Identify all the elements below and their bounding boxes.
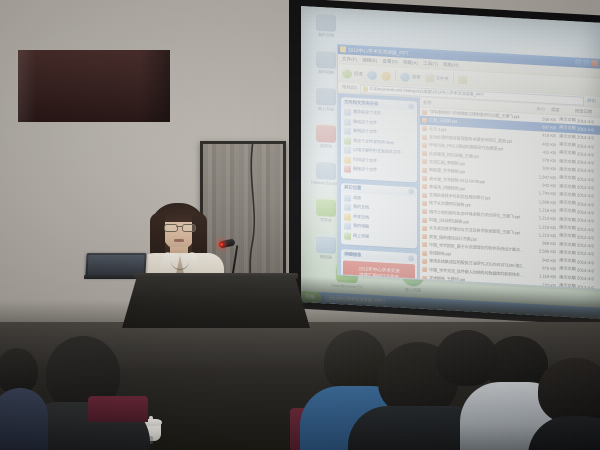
views-button[interactable] bbox=[458, 75, 467, 84]
my-computer-glyph bbox=[316, 50, 336, 69]
file-type: 演示文稿 bbox=[559, 249, 577, 256]
file-type: 演示文稿 bbox=[559, 141, 577, 148]
file-date: 2012-4-9 bbox=[577, 143, 599, 149]
forward-arrow-icon bbox=[367, 69, 377, 80]
file-type: 演示文稿 bbox=[559, 117, 577, 124]
menu-item-favorites[interactable]: 收藏(A) bbox=[403, 59, 418, 66]
back-button[interactable]: 后退 bbox=[342, 68, 363, 79]
folders-button-label: 文件夹 bbox=[436, 75, 449, 82]
powerpoint-file-icon bbox=[422, 226, 427, 231]
email-icon bbox=[344, 146, 351, 153]
explorer-body: 文件和文件夹任务 重命名这个文件 移动这个文件 bbox=[338, 93, 600, 290]
powerpoint-file-icon bbox=[422, 109, 427, 114]
file-date: 2012-4-9 bbox=[577, 218, 599, 224]
other-places-body: 桌面 我的文档 共享文档 bbox=[341, 192, 417, 249]
folder-path-icon bbox=[363, 86, 368, 91]
file-date: 2012-4-9 bbox=[577, 168, 599, 174]
file-size: 2,585 KB bbox=[526, 248, 559, 255]
file-date: 2012-4-9 bbox=[577, 267, 599, 273]
details-title: 详细信息 bbox=[344, 251, 361, 258]
file-date: 2012-4-9 bbox=[577, 135, 599, 141]
close-button[interactable] bbox=[591, 60, 598, 66]
file-type: 演示文稿 bbox=[559, 125, 577, 132]
powerpoint-file-icon bbox=[422, 184, 427, 189]
move-icon bbox=[344, 118, 351, 125]
file-size: 942 KB bbox=[526, 256, 559, 263]
file-folder-tasks-group: 文件和文件夹任务 重命名这个文件 移动这个文件 bbox=[341, 97, 417, 182]
file-date: 2012-4-9 bbox=[577, 176, 599, 182]
other-places-group: 其它位置 桌面 我的文档 bbox=[341, 183, 417, 249]
file-date: 2012-4-9 bbox=[577, 126, 599, 132]
file-date: 2012-4-9 bbox=[577, 201, 599, 207]
powerpoint-file-icon bbox=[422, 167, 427, 172]
file-size: 1,216 KB bbox=[526, 223, 559, 230]
task-label: 将这个文件发布到 Web bbox=[353, 137, 394, 144]
powerpoint-file-icon bbox=[422, 201, 427, 206]
file-size: 402 KB bbox=[526, 140, 559, 147]
folder-glyph bbox=[316, 198, 336, 217]
file-size: 558 KB bbox=[526, 115, 559, 122]
toolbar-separator-2 bbox=[453, 73, 454, 84]
file-list-rows: "学科智构科" 环境精善法律制度研究议题_王建飞.ppt558 KB演示文稿20… bbox=[420, 108, 600, 290]
file-date: 2012-4-9 bbox=[577, 276, 599, 282]
menu-item-view[interactable]: 查看(V) bbox=[382, 58, 397, 65]
file-size: 968 KB bbox=[526, 240, 559, 247]
file-type: 演示文稿 bbox=[559, 133, 577, 140]
powerpoint-file-icon bbox=[422, 242, 427, 247]
back-arrow-icon bbox=[342, 68, 352, 79]
file-size: 1,213 KB bbox=[526, 215, 559, 222]
file-size: 875 KB bbox=[526, 265, 559, 272]
audience-member-6 bbox=[528, 358, 600, 450]
desktop-icon-label: 我的文档 bbox=[305, 31, 347, 38]
presenter-glasses bbox=[163, 223, 195, 230]
ie-glyph bbox=[316, 161, 336, 180]
audience-head bbox=[436, 330, 498, 386]
place-label: 网上邻居 bbox=[353, 232, 369, 238]
powerpoint-file-icon bbox=[422, 217, 427, 222]
menu-item-file[interactable]: 文件(F) bbox=[342, 56, 357, 63]
file-folder-tasks-body: 重命名这个文件 移动这个文件 复制这个文件 bbox=[341, 106, 417, 182]
lecture-hall-photo: 我的文档 我的电脑 网上邻居 回收站 Internet Explorer 文件夹 bbox=[0, 0, 600, 450]
powerpoint-file-icon bbox=[422, 234, 427, 239]
task-delete-file[interactable]: 删除这个文件 bbox=[344, 165, 414, 176]
minimize-button[interactable] bbox=[575, 59, 582, 65]
file-size: 411 KB bbox=[526, 148, 559, 155]
task-label: 删除这个文件 bbox=[353, 166, 377, 172]
column-header-date[interactable]: 修改日期 bbox=[572, 108, 600, 116]
powerpoint-file-icon bbox=[422, 143, 427, 148]
menu-item-tools[interactable]: 工具(T) bbox=[423, 60, 438, 67]
powerpoint-file-icon bbox=[422, 118, 427, 123]
my-documents-icon[interactable]: 我的文档 bbox=[305, 12, 347, 38]
file-date: 2012-4-9 bbox=[577, 118, 599, 124]
file-date: 2012-4-9 bbox=[577, 184, 599, 190]
file-type: 演示文稿 bbox=[559, 183, 577, 190]
powerpoint-file-icon bbox=[422, 267, 427, 272]
file-size: 1,947 KB bbox=[526, 173, 559, 180]
menu-item-edit[interactable]: 编辑(E) bbox=[362, 57, 377, 64]
podium-base-shadow bbox=[140, 50, 170, 122]
file-size: 1,213 KB bbox=[526, 231, 559, 238]
folders-icon bbox=[425, 73, 434, 82]
file-date: 2012-4-9 bbox=[577, 251, 599, 257]
my-documents-icon bbox=[344, 203, 351, 210]
podium-top bbox=[122, 276, 310, 328]
file-date: 2012-4-9 bbox=[577, 226, 599, 232]
file-type: 演示文稿 bbox=[559, 233, 577, 240]
file-type: 演示文稿 bbox=[559, 274, 577, 281]
place-label: 我的电脑 bbox=[353, 223, 369, 229]
file-type: 演示文稿 bbox=[559, 166, 577, 173]
microphone-led-icon bbox=[219, 242, 224, 247]
window-controls[interactable] bbox=[575, 59, 598, 66]
file-date: 2012-4-9 bbox=[577, 160, 599, 166]
place-network[interactable]: 网上邻居 bbox=[344, 232, 414, 243]
file-folder-tasks-title: 文件和文件夹任务 bbox=[344, 99, 378, 107]
powerpoint-file-icon bbox=[422, 126, 427, 131]
file-date: 2012-4-9 bbox=[577, 151, 599, 157]
up-button[interactable] bbox=[381, 70, 391, 81]
file-type: 演示文稿 bbox=[559, 208, 577, 215]
podium bbox=[122, 276, 310, 396]
up-arrow-icon bbox=[381, 70, 391, 81]
column-header-size[interactable]: 大小 bbox=[512, 104, 548, 112]
powerpoint-file-icon bbox=[422, 259, 427, 264]
powerpoint-file-icon bbox=[422, 159, 427, 164]
network-icon bbox=[344, 232, 351, 239]
address-label: 地址(D) bbox=[342, 84, 357, 91]
file-type: 演示文稿 bbox=[559, 200, 577, 207]
audience-head bbox=[538, 358, 600, 424]
desktop-icon bbox=[344, 194, 351, 201]
folders-button[interactable]: 文件夹 bbox=[425, 73, 449, 82]
file-date: 2012-4-9 bbox=[577, 243, 599, 249]
task-label: 打印这个文件 bbox=[353, 156, 377, 162]
media-player-glyph bbox=[316, 235, 336, 254]
file-date: 2012-4-9 bbox=[577, 259, 599, 265]
folder-window-icon bbox=[340, 46, 346, 52]
file-size: 687 KB bbox=[526, 124, 559, 131]
copy-icon bbox=[344, 127, 351, 134]
file-size: 378 KB bbox=[526, 157, 559, 164]
file-type: 演示文稿 bbox=[559, 258, 577, 265]
explorer-window[interactable]: 2012中心学术交流讲座_PPT 文件(F) 编辑(E) 查看(V) 收藏(A)… bbox=[337, 44, 600, 290]
powerpoint-file-icon bbox=[422, 134, 427, 139]
file-type: 演示文稿 bbox=[559, 224, 577, 231]
search-icon bbox=[400, 71, 410, 82]
file-type: 演示文稿 bbox=[559, 241, 577, 248]
task-label: 以电子邮件形式发送此文件 bbox=[353, 147, 401, 155]
audience-member-2 bbox=[0, 348, 44, 450]
file-type: 演示文稿 bbox=[559, 158, 577, 165]
other-places-title: 其它位置 bbox=[344, 184, 361, 191]
forward-button[interactable] bbox=[367, 69, 377, 80]
my-documents-glyph bbox=[316, 13, 336, 32]
file-type: 演示文稿 bbox=[559, 191, 577, 198]
file-type: 演示文稿 bbox=[559, 266, 577, 273]
file-type: 演示文稿 bbox=[559, 175, 577, 182]
menu-item-help[interactable]: 帮助(H) bbox=[443, 61, 459, 68]
back-button-label: 后退 bbox=[354, 70, 363, 76]
file-date: 2012-4-9 bbox=[577, 193, 599, 199]
task-label: 重命名这个文件 bbox=[353, 109, 381, 116]
collapse-chevron-icon[interactable] bbox=[408, 102, 414, 108]
file-size: 324 KB bbox=[526, 165, 559, 172]
toolbar-separator bbox=[395, 70, 396, 81]
projection-screen: 我的文档 我的电脑 网上邻居 回收站 Internet Explorer 文件夹 bbox=[301, 6, 600, 319]
delete-icon bbox=[344, 165, 351, 172]
views-icon bbox=[458, 75, 467, 84]
column-header-type[interactable]: 类型 bbox=[548, 106, 572, 113]
file-size: 942 KB bbox=[526, 182, 559, 189]
shared-documents-icon bbox=[344, 213, 351, 220]
file-type: 演示文稿 bbox=[559, 150, 577, 157]
file-date: 2012-4-9 bbox=[577, 234, 599, 240]
audience-shoulders bbox=[0, 388, 48, 450]
task-pane: 文件和文件夹任务 重命名这个文件 移动这个文件 bbox=[338, 93, 420, 282]
file-size: 1,118 KB bbox=[526, 273, 559, 280]
powerpoint-file-icon bbox=[422, 275, 427, 280]
task-label: 复制这个文件 bbox=[353, 128, 377, 134]
podium-base-highlight bbox=[18, 50, 36, 122]
powerpoint-file-icon bbox=[422, 176, 427, 181]
search-button[interactable]: 搜索 bbox=[400, 71, 421, 82]
place-label: 共享文档 bbox=[353, 213, 369, 219]
powerpoint-file-icon bbox=[422, 250, 427, 255]
place-label: 桌面 bbox=[353, 194, 361, 199]
recycle-bin-glyph bbox=[316, 124, 336, 143]
rename-icon bbox=[344, 108, 351, 115]
powerpoint-file-icon bbox=[422, 151, 427, 156]
file-date: 2012-4-9 bbox=[577, 209, 599, 215]
laptop-screen bbox=[87, 255, 144, 275]
my-computer-icon bbox=[344, 222, 351, 229]
teacup-knob bbox=[149, 416, 153, 420]
search-button-label: 搜索 bbox=[412, 74, 421, 80]
file-list[interactable]: 名称 大小 类型 修改日期 "学科智构科" 环境精善法律制度研究议题_王建飞.p… bbox=[420, 98, 600, 290]
task-label: 移动这个文件 bbox=[353, 118, 377, 124]
presenter-mouth bbox=[174, 239, 184, 242]
powerpoint-file-icon bbox=[422, 192, 427, 197]
collapse-chevron-icon[interactable] bbox=[408, 254, 414, 260]
glasses-bridge bbox=[176, 226, 182, 227]
powerpoint-file-icon bbox=[422, 209, 427, 214]
glasses-lens-right bbox=[182, 224, 196, 232]
place-label: 我的文档 bbox=[353, 204, 369, 210]
audience-member-7 bbox=[428, 330, 506, 390]
collapse-chevron-icon[interactable] bbox=[408, 188, 414, 194]
file-size: 1,216 KB bbox=[526, 206, 559, 213]
maximize-button[interactable] bbox=[583, 60, 590, 66]
file-type: 演示文稿 bbox=[559, 216, 577, 223]
go-button[interactable]: 转到 bbox=[587, 98, 596, 104]
network-places-glyph bbox=[316, 87, 336, 106]
seat-back-1 bbox=[88, 396, 148, 422]
file-size: 1,704 KB bbox=[526, 190, 559, 197]
print-icon bbox=[344, 156, 351, 163]
publish-web-icon bbox=[344, 137, 351, 144]
file-size: 419 KB bbox=[526, 132, 559, 139]
audience-shoulders bbox=[528, 416, 600, 450]
file-size: 1,600 KB bbox=[526, 198, 559, 205]
